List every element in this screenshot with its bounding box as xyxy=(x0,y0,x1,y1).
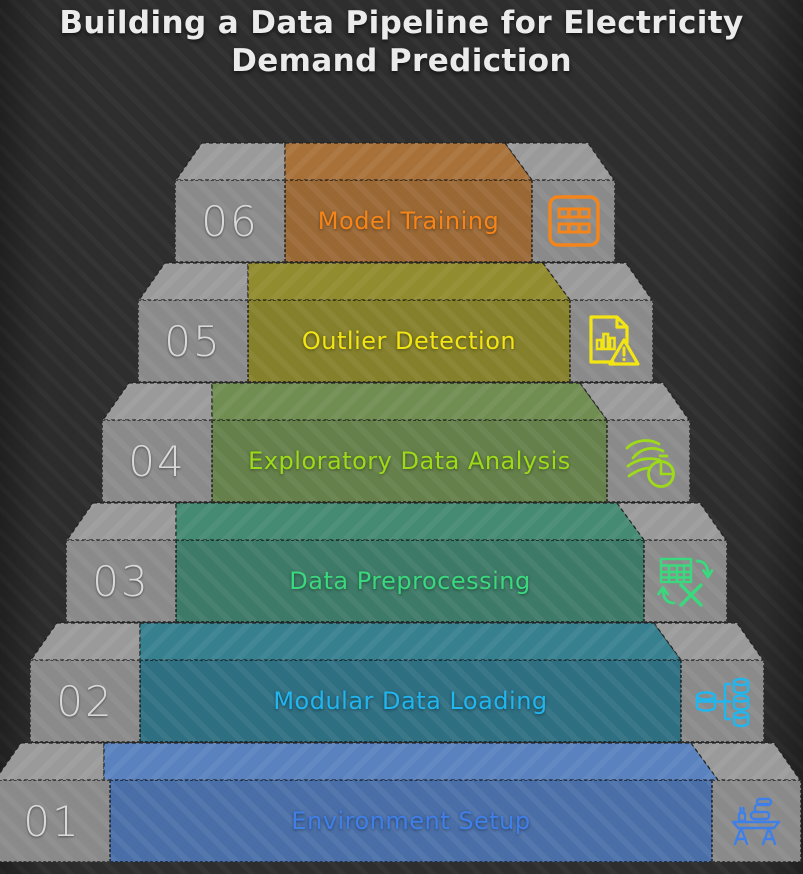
step-04-top-svg xyxy=(102,382,690,421)
step-06-icon-panel[interactable] xyxy=(532,180,615,262)
spreadsheet-convert-icon xyxy=(656,552,716,610)
step-04-label: Exploratory Data Analysis xyxy=(248,447,571,475)
step-06[interactable]: 06 Model Training xyxy=(175,142,615,262)
step-05-label-panel[interactable]: Outlier Detection xyxy=(248,300,570,382)
step-04-icon-panel[interactable] xyxy=(607,420,690,502)
step-04-label-panel[interactable]: Exploratory Data Analysis xyxy=(212,420,607,502)
step-03-number: 03 xyxy=(92,557,149,606)
wind-pie-chart-icon xyxy=(619,432,679,490)
step-05-front-face: 05 Outlier Detection xyxy=(138,300,653,382)
step-03-icon-panel[interactable] xyxy=(644,540,727,622)
step-01-label-panel[interactable]: Environment Setup xyxy=(110,780,712,862)
step-02-top-svg xyxy=(30,622,764,661)
step-03-top-face xyxy=(66,502,727,540)
step-04-top-face xyxy=(102,382,690,420)
step-02-number-panel: 02 xyxy=(30,660,140,742)
step-01-icon-panel[interactable] xyxy=(712,780,801,862)
step-03-front-face: 03 Data Preprocessing xyxy=(66,540,727,622)
step-06-number-panel: 06 xyxy=(175,180,285,262)
step-04[interactable]: 04 Exploratory Data Analysis xyxy=(102,382,690,502)
step-06-number: 06 xyxy=(201,197,258,246)
step-02-label: Modular Data Loading xyxy=(273,687,547,715)
grid-table-icon xyxy=(546,193,602,249)
staircase-infographic: Building a Data Pipeline for Electricity… xyxy=(0,0,803,874)
step-02-icon-panel[interactable] xyxy=(681,660,764,742)
step-05-icon-panel[interactable] xyxy=(570,300,653,382)
step-01[interactable]: 01 Environment Setup xyxy=(0,742,801,862)
step-03-label-panel[interactable]: Data Preprocessing xyxy=(176,540,644,622)
step-01-number: 01 xyxy=(23,797,80,846)
step-01-front-face: 01 Environment Setup xyxy=(0,780,801,862)
database-branch-icon xyxy=(693,672,753,730)
step-02-top-face xyxy=(30,622,764,660)
document-chart-warning-icon xyxy=(583,312,641,370)
step-04-number: 04 xyxy=(128,437,185,486)
step-01-number-panel: 01 xyxy=(0,780,110,862)
step-06-front-face: 06 Model Training xyxy=(175,180,615,262)
step-05-number: 05 xyxy=(164,317,221,366)
step-05-top-svg xyxy=(138,262,653,301)
step-02-number: 02 xyxy=(56,677,113,726)
step-04-number-panel: 04 xyxy=(102,420,212,502)
step-02-front-face: 02 Modular Data Loading xyxy=(30,660,764,742)
step-03-top-svg xyxy=(66,502,727,541)
step-05-top-face xyxy=(138,262,653,300)
step-05[interactable]: 05 Outlier Detection xyxy=(138,262,653,382)
step-03-number-panel: 03 xyxy=(66,540,176,622)
page-title: Building a Data Pipeline for Electricity… xyxy=(0,4,803,80)
step-06-label-panel[interactable]: Model Training xyxy=(285,180,532,262)
step-06-top-face xyxy=(175,142,615,180)
step-03-label: Data Preprocessing xyxy=(289,567,530,595)
workbench-icon xyxy=(727,792,787,850)
step-06-top-svg xyxy=(175,142,615,181)
step-06-label: Model Training xyxy=(318,207,499,235)
step-02-label-panel[interactable]: Modular Data Loading xyxy=(140,660,681,742)
step-05-label: Outlier Detection xyxy=(302,327,516,355)
step-01-label: Environment Setup xyxy=(291,807,530,835)
step-01-top-face xyxy=(0,742,801,780)
step-02[interactable]: 02 Modular Data Loading xyxy=(30,622,764,742)
step-03[interactable]: 03 Data Preprocessing xyxy=(66,502,727,622)
step-04-front-face: 04 Exploratory Data Analysis xyxy=(102,420,690,502)
step-01-top-svg xyxy=(0,742,801,781)
step-05-number-panel: 05 xyxy=(138,300,248,382)
